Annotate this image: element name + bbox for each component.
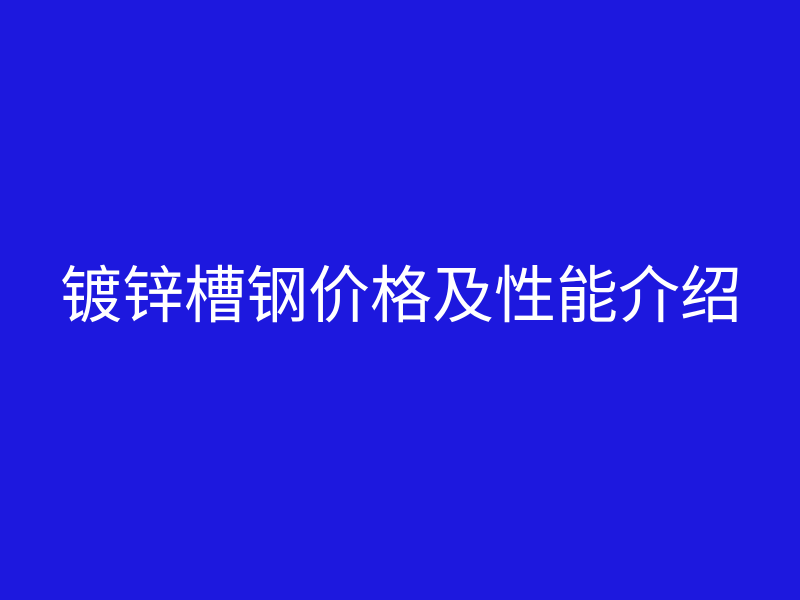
title-banner: 镀锌槽钢价格及性能介绍 [0,0,800,600]
title-block: 镀锌槽钢价格及性能介绍 [0,0,800,600]
page-title: 镀锌槽钢价格及性能介绍 [0,263,742,328]
